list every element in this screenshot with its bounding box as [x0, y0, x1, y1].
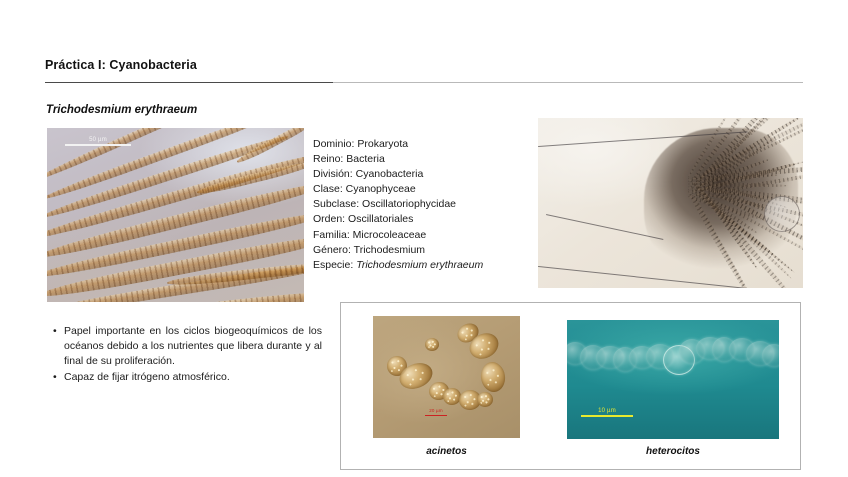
scale-bar-line — [425, 415, 447, 417]
taxonomy-value: Microcoleaceae — [350, 229, 426, 241]
taxonomy-rank: Familia: — [313, 229, 350, 241]
taxonomy-row: Clase: Cyanophyceae — [313, 182, 528, 197]
scale-bar-50um: 50 µm — [65, 137, 131, 146]
air-bubble — [764, 196, 800, 232]
list-item: Capaz de fijar itrógeno atmosférico. — [64, 370, 322, 385]
scale-bar-line — [581, 415, 633, 417]
akinetes-caption: acinetos — [373, 446, 520, 457]
taxonomy-value: Trichodesmium erythraeum — [353, 259, 483, 271]
taxonomy-value: Prokaryota — [354, 138, 408, 150]
taxonomy-row: Dominio: Prokaryota — [313, 137, 528, 152]
taxonomy-rank: División: — [313, 168, 353, 180]
taxonomy-row: Especie: Trichodesmium erythraeum — [313, 258, 528, 273]
taxonomy-value: Cyanophyceae — [343, 183, 416, 195]
bullet-list: Papel importante en los ciclos biogeoquí… — [48, 324, 322, 386]
taxonomy-value: Oscillatoriophycidae — [359, 198, 456, 210]
title-divider — [45, 82, 803, 83]
taxonomy-rank: Orden: — [313, 213, 345, 225]
taxonomy-row: Reino: Bacteria — [313, 152, 528, 167]
taxonomy-value: Bacteria — [343, 153, 384, 165]
page-title: Práctica I: Cyanobacteria — [45, 58, 197, 72]
heterocytes-micrograph: 10 µm — [567, 320, 779, 439]
taxonomy-rank: Especie: — [313, 259, 353, 271]
taxonomy-row: Género: Trichodesmium — [313, 243, 528, 258]
taxonomy-rank: Clase: — [313, 183, 343, 195]
akinetes-micrograph: 20 µm — [373, 316, 520, 438]
scale-bar-line — [65, 144, 131, 146]
taxonomy-rank: Dominio: — [313, 138, 354, 150]
trichodesmium-filaments-micrograph: 50 µm — [47, 128, 304, 302]
scale-bar-20um: 20 µm — [425, 409, 447, 416]
trichodesmium-tuft-micrograph — [538, 118, 803, 288]
taxonomy-value: Cyanobacteria — [353, 168, 424, 180]
taxonomy-rank: Género: — [313, 244, 351, 256]
taxonomy-value: Oscillatoriales — [345, 213, 413, 225]
taxonomy-lines: Dominio: ProkaryotaReino: BacteriaDivisi… — [313, 137, 528, 273]
taxonomy-row: División: Cyanobacteria — [313, 167, 528, 182]
vegetative-cell — [762, 344, 779, 367]
species-heading: Trichodesmium erythraeum — [46, 104, 197, 116]
taxonomy-row: Subclase: Oscillatoriophycidae — [313, 197, 528, 212]
taxonomy-row: Familia: Microcoleaceae — [313, 228, 528, 243]
heterocytes-caption: heterocitos — [567, 446, 779, 457]
akinete-cell — [477, 392, 493, 407]
micrograph-background — [567, 320, 779, 439]
scale-bar-10um: 10 µm — [581, 408, 633, 417]
list-item: Papel importante en los ciclos biogeoquí… — [64, 324, 322, 370]
akinete-cell — [425, 338, 439, 351]
taxonomy-list: Dominio: ProkaryotaReino: BacteriaDivisi… — [313, 137, 528, 273]
slide: Práctica I: Cyanobacteria Trichodesmium … — [0, 0, 848, 477]
taxonomy-row: Orden: Oscillatoriales — [313, 212, 528, 227]
taxonomy-value: Trichodesmium — [351, 244, 425, 256]
taxonomy-rank: Subclase: — [313, 198, 359, 210]
taxonomy-rank: Reino: — [313, 153, 343, 165]
